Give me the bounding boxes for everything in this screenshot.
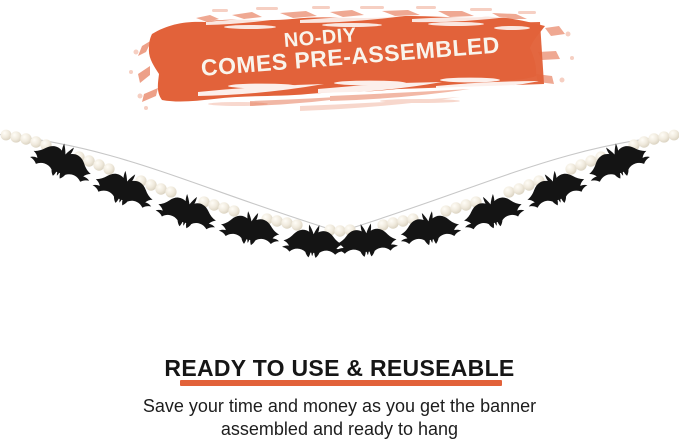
footer-subtext-line2: assembled and ready to hang [0, 418, 679, 441]
bat-8 [458, 187, 527, 236]
bat-7 [397, 207, 463, 250]
bat-4 [217, 207, 283, 250]
bat-bead-garland [0, 120, 679, 295]
footer-headline: READY TO USE & REUSEABLE [0, 355, 679, 382]
orange-brush-stroke [0, 0, 679, 130]
bat-6 [335, 222, 398, 259]
footer-subtext: Save your time and money as you get the … [0, 395, 679, 441]
promo-banner: NO-DIY COMES PRE-ASSEMBLED [0, 0, 679, 130]
footer-headline-wrap: READY TO USE & REUSEABLE [0, 355, 679, 389]
product-feature-image: NO-DIY COMES PRE-ASSEMBLED [0, 0, 679, 446]
bat-3 [153, 187, 222, 236]
footer-subtext-line1: Save your time and money as you get the … [0, 395, 679, 418]
footer-copy-block: READY TO USE & REUSEABLE Save your time … [0, 355, 679, 446]
